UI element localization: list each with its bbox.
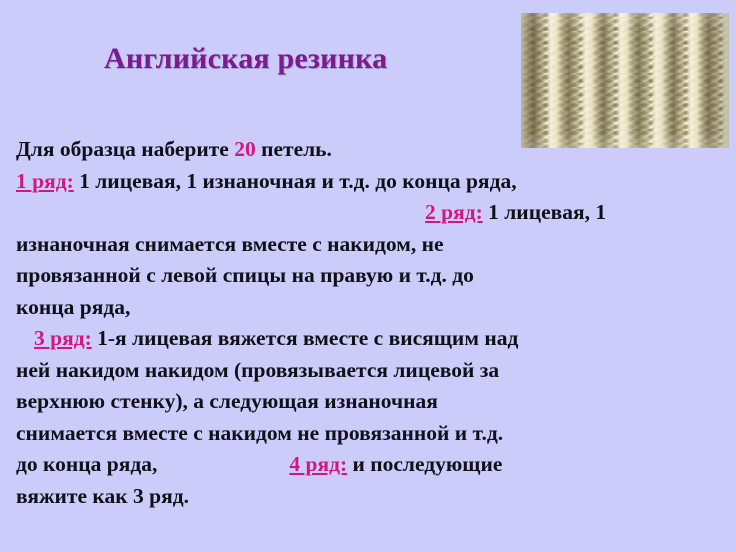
line-row3-cont-2: верхнюю стенку), а следующая изнаночная [16,386,720,418]
line-row3-end-and-row4: до конца ряда,4 ряд: и последующие [16,449,720,481]
page-title: Английская резинка [104,42,434,76]
row-text-1: 1 лицевая, 1 изнаночная и т.д. до конца … [74,169,517,193]
row-text-3-end: до конца ряда, [16,452,157,476]
row-text-3: 1-я лицевая вяжется вместе с висящим над [92,326,519,350]
row-label-4: 4 ряд: [289,452,347,476]
instructions-body: Для образца наберите 20 петель. 1 ряд: 1… [16,134,720,512]
row-text-4: и последующие [347,452,502,476]
knit-photo-vignette [521,13,729,148]
line-row3-cont-3: снимается вместе с накидом не провязанно… [16,418,720,450]
line-row2-cont-3: конца ряда, [16,292,720,324]
line-intro: Для образца наберите 20 петель. [16,134,720,166]
intro-text-before: Для образца наберите [16,137,234,161]
stitch-count: 20 [234,137,256,161]
row-label-3: 3 ряд: [34,326,92,350]
row-label-2: 2 ряд: [425,200,483,224]
line-row3: 3 ряд: 1-я лицевая вяжется вместе с вися… [16,323,720,355]
row-text-2: 1 лицевая, 1 [483,200,606,224]
row-label-1: 1 ряд: [16,169,74,193]
line-row2-cont-1: изнаночная снимается вместе с накидом, н… [16,229,720,261]
line-row2: 2 ряд: 1 лицевая, 1 [16,197,720,229]
knitting-sample-photo [521,13,729,148]
line-row1: 1 ряд: 1 лицевая, 1 изнаночная и т.д. до… [16,166,720,198]
line-row3-cont-1: ней накидом накидом (провязывается лицев… [16,355,720,387]
intro-text-after: петель. [256,137,332,161]
line-row2-cont-2: провязанной с левой спицы на правую и т.… [16,260,720,292]
slide-canvas: Английская резинка Для образца наберите … [0,0,736,552]
line-row4-cont: вяжите как 3 ряд. [16,481,720,513]
